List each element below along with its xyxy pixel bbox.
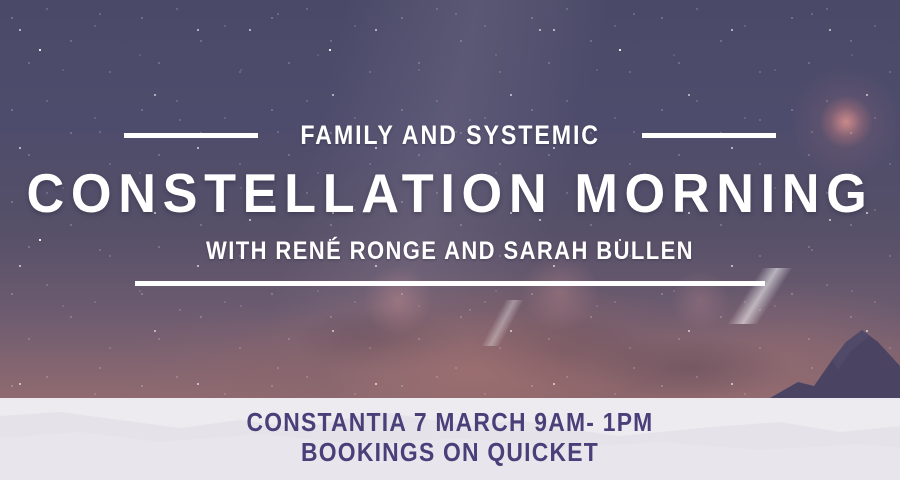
poster-title: CONSTELLATION MORNING: [23, 166, 878, 221]
divider-rule-left: [124, 133, 258, 138]
mountain-peak-right: [770, 326, 900, 398]
divider-rule-right: [642, 133, 776, 138]
footer-line-bookings: BOOKINGS ON QUICKET: [54, 437, 846, 467]
event-poster: FAMILY AND SYSTEMIC CONSTELLATION MORNIN…: [0, 0, 900, 480]
footer-line-venue-date: CONSTANTIA 7 MARCH 9AM- 1PM: [54, 407, 846, 437]
footer-text-block: CONSTANTIA 7 MARCH 9AM- 1PM BOOKINGS ON …: [0, 398, 900, 468]
footer-band: CONSTANTIA 7 MARCH 9AM- 1PM BOOKINGS ON …: [0, 398, 900, 480]
eyebrow-row: FAMILY AND SYSTEMIC: [0, 118, 900, 152]
shooting-star-secondary-icon: [455, 300, 550, 346]
eyebrow-text: FAMILY AND SYSTEMIC: [300, 122, 600, 149]
presenters-text: WITH RENÉ RONGE AND SARAH BULLEN: [54, 239, 846, 264]
divider-rule-full: [135, 281, 765, 286]
headline-block: FAMILY AND SYSTEMIC CONSTELLATION MORNIN…: [0, 118, 900, 286]
